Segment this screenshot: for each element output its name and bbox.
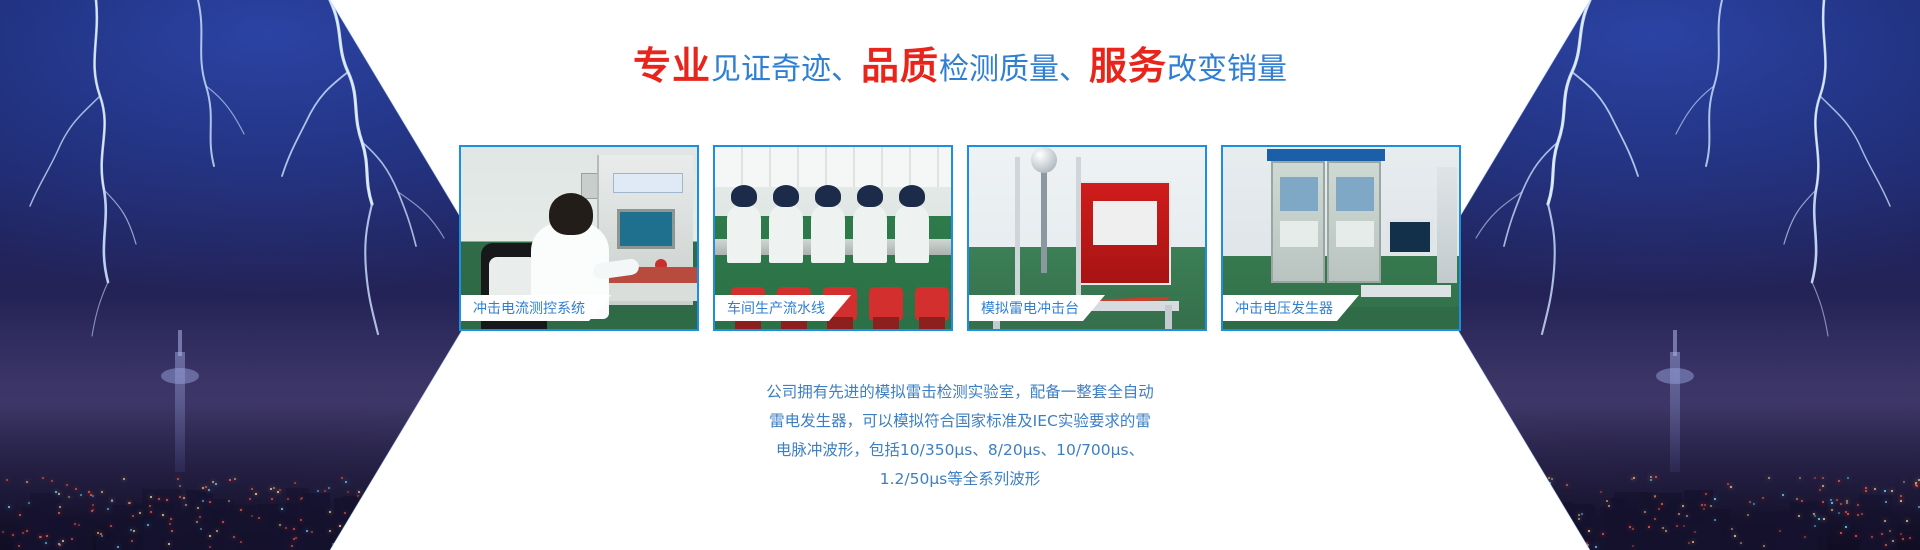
thumbnail-caption: 冲击电压发生器 [1223,295,1359,321]
headline-segment-1: 专业 [633,44,711,88]
description-line-4: 1.2/50μs等全系列波形 [0,465,1920,494]
description-line-1: 公司拥有先进的模拟雷击检测实验室，配备一整套全自动 [0,378,1920,407]
thumbnail-caption: 车间生产流水线 [715,295,851,321]
thumbnail-caption: 模拟雷电冲击台 [969,295,1105,321]
description-line-3: 电脉冲波形，包括10/350μs、8/20μs、10/700μs、 [0,436,1920,465]
headline-segment-3: 品质 [861,44,939,88]
thumbnail-impulse-voltage-generator[interactable]: 冲击电压发生器 [1221,145,1461,331]
thumbnail-gallery: 冲击电流测控系统 车间生产流水线 [0,145,1920,331]
headline-segment-4: 检测质量、 [939,52,1089,87]
headline-segment-5: 服务 [1089,44,1167,88]
description-text: 公司拥有先进的模拟雷击检测实验室，配备一整套全自动 雷电发生器，可以模拟符合国家… [0,378,1920,494]
headline-segment-6: 改变销量 [1167,52,1287,87]
promo-banner: 专业见证奇迹、品质检测质量、服务改变销量 冲击电流测控系统 [0,0,1920,550]
page-title: 专业见证奇迹、品质检测质量、服务改变销量 [0,47,1920,85]
thumbnail-impulse-current-control-system[interactable]: 冲击电流测控系统 [459,145,699,331]
headline-segment-2: 见证奇迹、 [711,52,861,87]
thumbnail-caption: 冲击电流测控系统 [461,295,611,321]
thumbnail-workshop-production-line[interactable]: 车间生产流水线 [713,145,953,331]
description-line-2: 雷电发生器，可以模拟符合国家标准及IEC实验要求的雷 [0,407,1920,436]
thumbnail-simulated-lightning-impulse-bench[interactable]: 模拟雷电冲击台 [967,145,1207,331]
